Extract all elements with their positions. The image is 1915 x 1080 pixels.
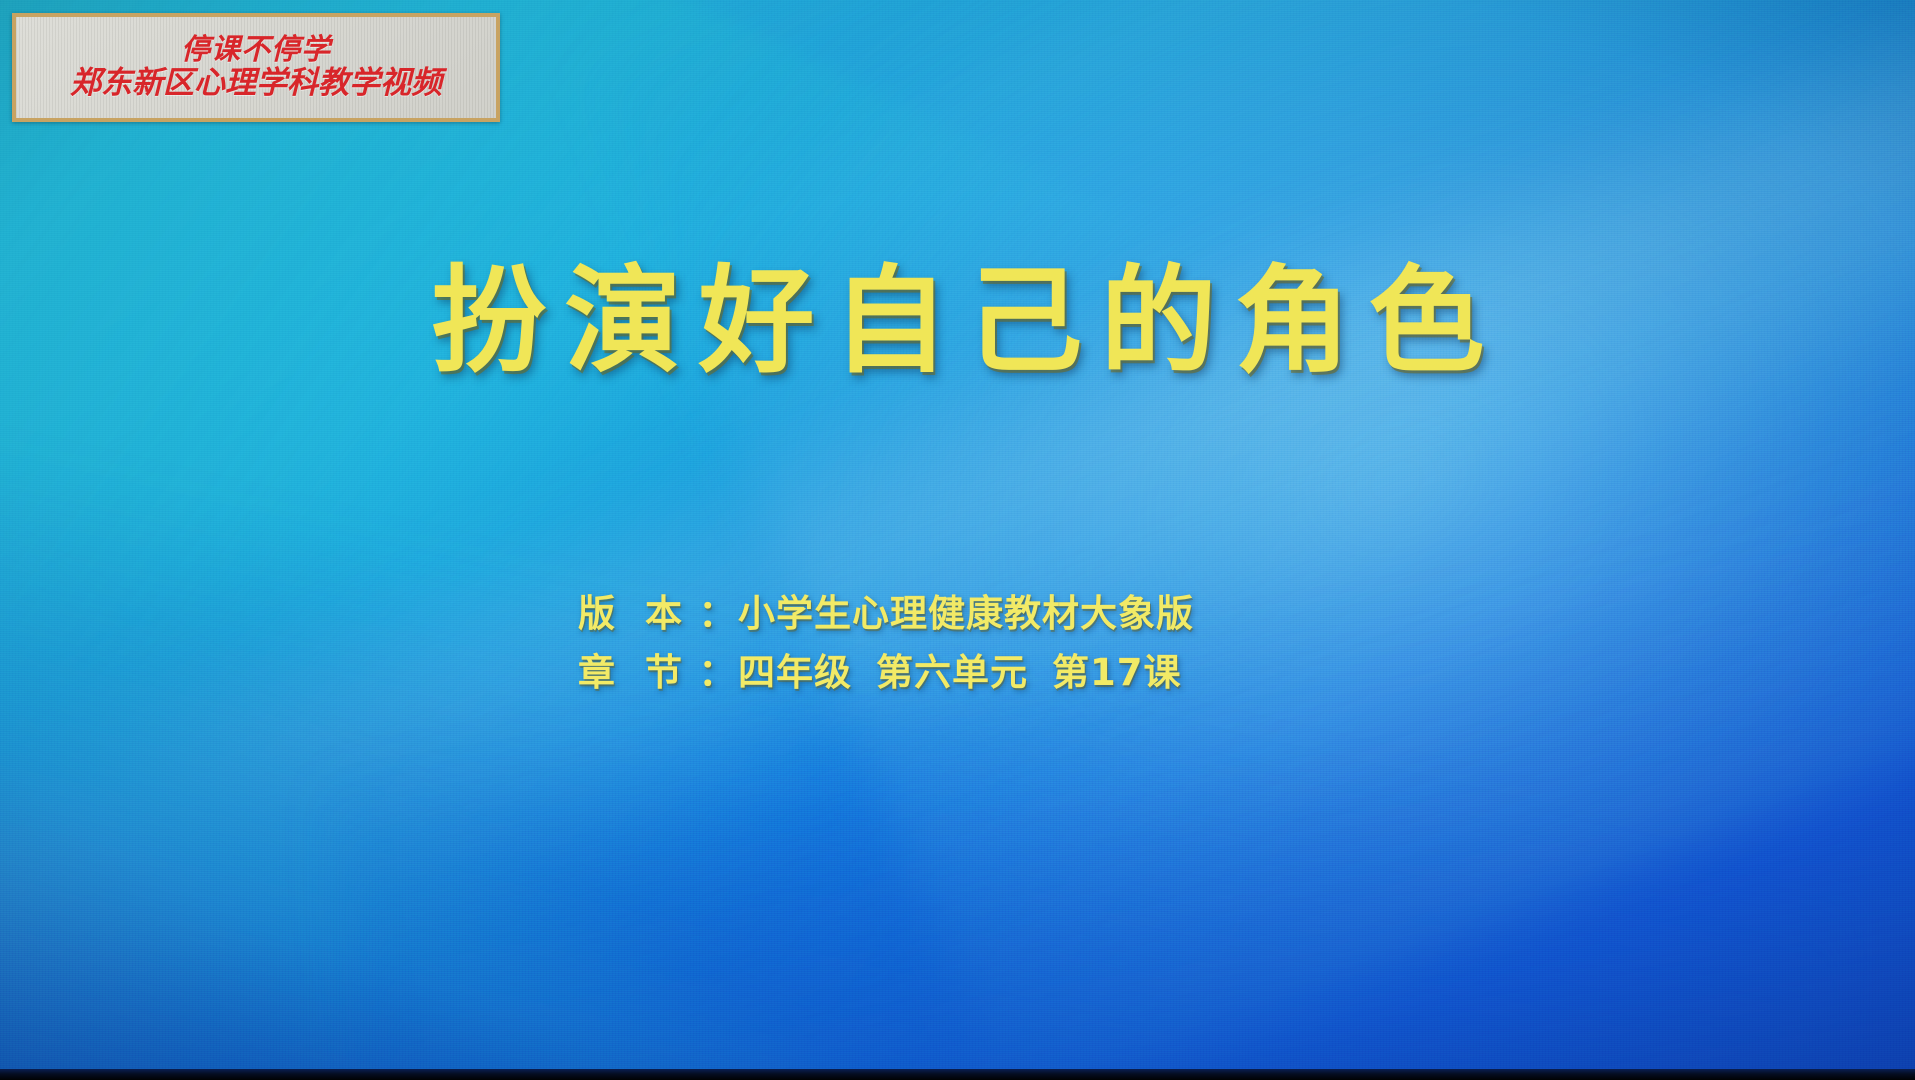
metadata-row-edition: 版本 ： 小学生心理健康教材大象版: [578, 595, 1194, 632]
metadata-colon-edition: ：: [696, 595, 738, 632]
metadata-label-edition: 版本: [578, 595, 696, 632]
metadata-value-chapter: 四年级第六单元第17课: [738, 654, 1182, 691]
course-program-badge: 停课不停学 郑东新区心理学科教学视频: [12, 13, 500, 122]
badge-line-slogan: 停课不停学: [181, 34, 331, 65]
badge-line-organization: 郑东新区心理学科教学视频: [70, 67, 442, 100]
metadata-value-chapter-grade: 四年级: [738, 651, 852, 694]
presentation-slide: 停课不停学 郑东新区心理学科教学视频 扮演好自己的角色 版本 ： 小学生心理健康…: [0, 0, 1915, 1080]
slide-title: 扮演好自己的角色: [0, 258, 1915, 386]
metadata-value-edition: 小学生心理健康教材大象版: [738, 595, 1194, 632]
metadata-value-chapter-lesson: 第17课: [1052, 651, 1182, 694]
slide-metadata: 版本 ： 小学生心理健康教材大象版 章节 ： 四年级第六单元第17课: [578, 595, 1194, 691]
metadata-row-chapter: 章节 ： 四年级第六单元第17课: [578, 654, 1194, 691]
metadata-label-chapter: 章节: [578, 654, 696, 691]
metadata-value-chapter-unit: 第六单元: [876, 651, 1028, 694]
metadata-colon-chapter: ：: [696, 654, 738, 691]
